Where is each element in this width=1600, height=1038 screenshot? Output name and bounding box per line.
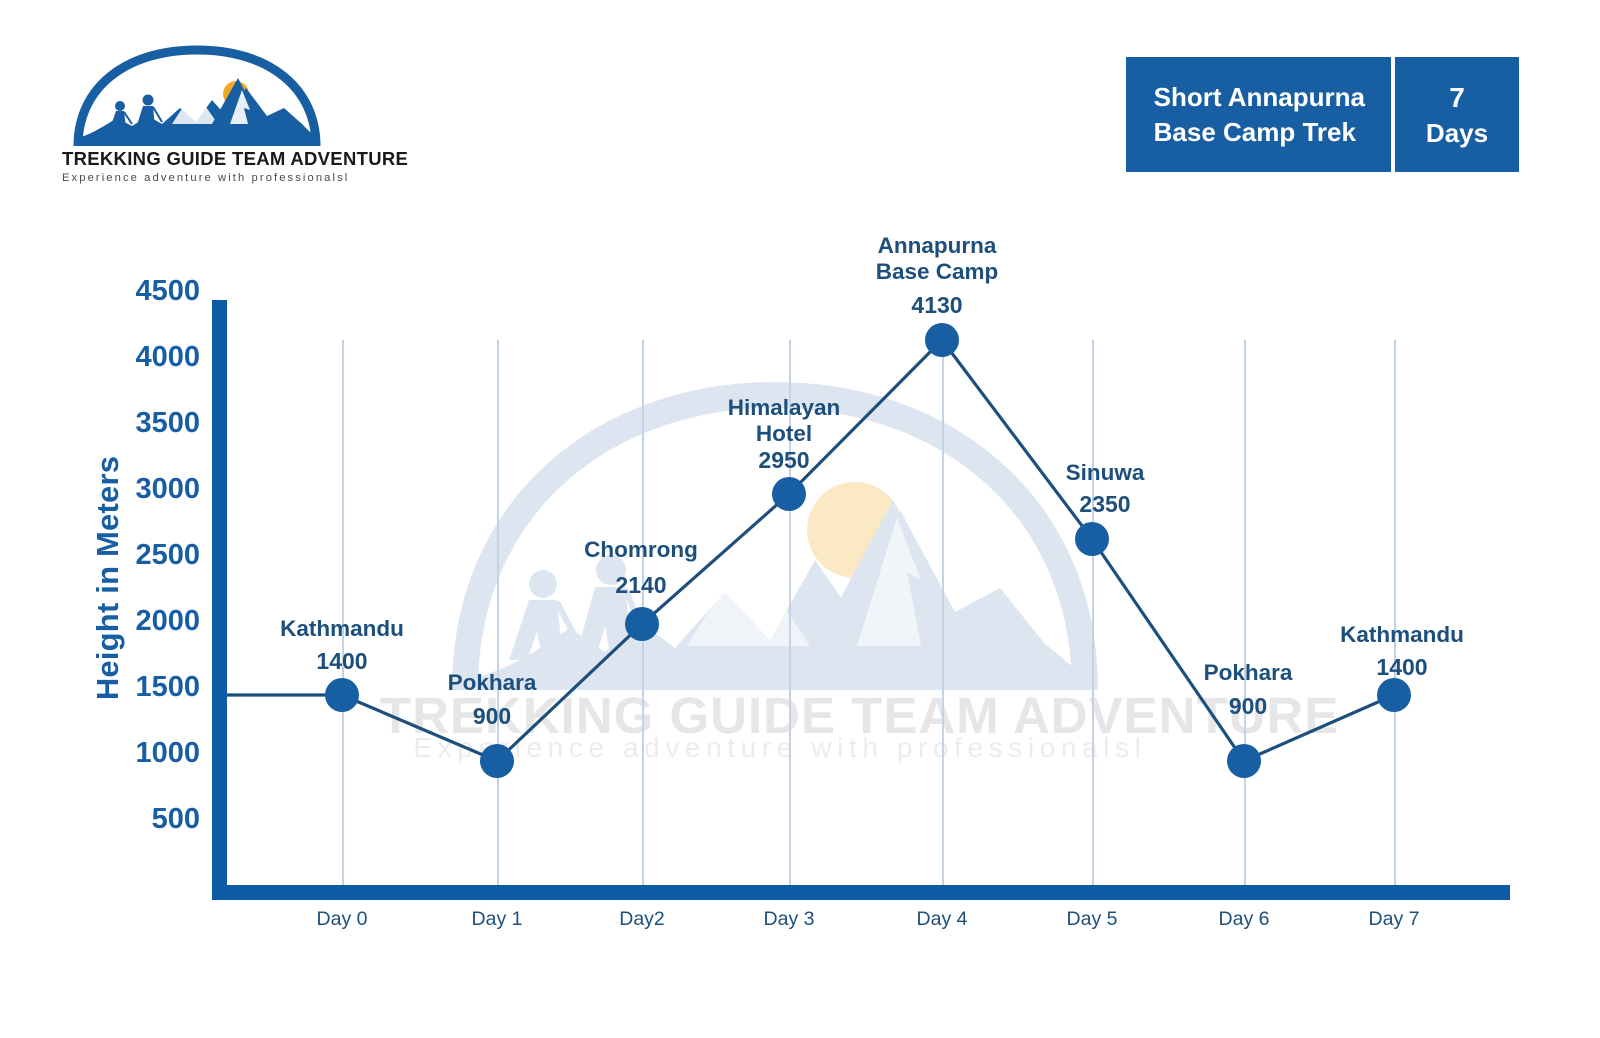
gridline: [642, 340, 644, 890]
point-value: 2350: [985, 493, 1225, 516]
point-label: Pokhara: [372, 670, 612, 696]
elevation-series: [0, 0, 1600, 1038]
point-value: 2950: [664, 449, 904, 472]
x-tick: Day 0: [262, 908, 422, 931]
gridline: [1394, 340, 1396, 890]
point-label: Sinuwa: [985, 460, 1225, 486]
x-axis-bar: [212, 885, 1510, 900]
y-tick: 1500: [90, 673, 200, 702]
point-label: Annapurna Base Camp: [817, 233, 1057, 285]
y-tick: 2500: [90, 541, 200, 570]
x-tick: Day 6: [1164, 908, 1324, 931]
y-axis-ticks: 4500 4000 3500 3000 2500 2000 1500 1000 …: [80, 0, 200, 1038]
elevation-profile-chart: TREKKING GUIDE TEAM ADVENTURE Experience…: [0, 0, 1600, 1038]
gridline: [1092, 340, 1094, 890]
point-label: Himalayan Hotel: [664, 395, 904, 447]
point-value: 1400: [1282, 656, 1522, 679]
y-tick: 500: [90, 805, 200, 834]
gridline: [497, 340, 499, 890]
point-value: 4130: [817, 294, 1057, 317]
y-tick: 2000: [90, 607, 200, 636]
point-label: Kathmandu: [222, 616, 462, 642]
point-value: 900: [1128, 695, 1368, 718]
x-tick: Day 1: [417, 908, 577, 931]
y-tick: 4000: [90, 343, 200, 372]
x-tick: Day2: [562, 908, 722, 931]
y-tick: 3500: [90, 409, 200, 438]
point-value: 2140: [521, 574, 761, 597]
gridline: [342, 340, 344, 890]
gridline: [1244, 340, 1246, 890]
y-tick: 3000: [90, 475, 200, 504]
x-tick: Day 7: [1314, 908, 1474, 931]
gridline: [942, 340, 944, 890]
point-value: 900: [372, 705, 612, 728]
watermark-text-secondary: Experience adventure with professionalsl: [380, 732, 1180, 764]
y-axis-bar: [212, 300, 227, 900]
x-tick: Day 3: [709, 908, 869, 931]
y-tick: 4500: [90, 277, 200, 306]
point-label: Chomrong: [521, 537, 761, 563]
x-tick: Day 5: [1012, 908, 1172, 931]
point-label: Kathmandu: [1282, 622, 1522, 648]
x-tick: Day 4: [862, 908, 1022, 931]
y-tick: 1000: [90, 739, 200, 768]
